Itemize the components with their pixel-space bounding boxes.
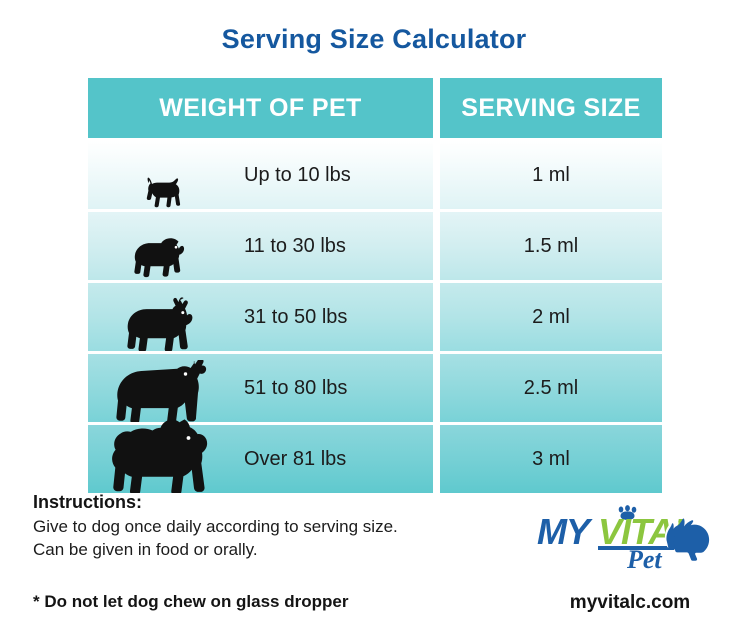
row-weight-text: 11 to 30 lbs <box>238 235 433 258</box>
table-row: Up to 10 lbs 1 ml <box>88 141 662 209</box>
row-serving-text: 1 ml <box>532 164 570 187</box>
xlarge-dog-icon <box>88 425 238 493</box>
large-dog-icon <box>88 354 238 422</box>
column-gap <box>433 141 440 209</box>
page-title: Serving Size Calculator <box>0 24 748 55</box>
warning-text: * Do not let dog chew on glass dropper <box>33 592 348 612</box>
column-gap <box>433 78 440 138</box>
column-gap <box>433 354 440 422</box>
instructions-block: Instructions: Give to dog once daily acc… <box>33 492 503 562</box>
table-row: 51 to 80 lbs 2.5 ml <box>88 354 662 422</box>
row-serving-cell: 3 ml <box>440 425 662 493</box>
row-serving-cell: 1 ml <box>440 141 662 209</box>
serving-size-table: WEIGHT OF PET SERVING SIZE Up to 10 lbs <box>88 78 662 493</box>
table-header-row: WEIGHT OF PET SERVING SIZE <box>88 78 662 138</box>
row-serving-text: 2 ml <box>532 306 570 329</box>
row-serving-cell: 1.5 ml <box>440 212 662 280</box>
table-row: 11 to 30 lbs 1.5 ml <box>88 212 662 280</box>
row-serving-cell: 2.5 ml <box>440 354 662 422</box>
row-weight-text: 31 to 50 lbs <box>238 306 433 329</box>
terrier-dog-icon <box>88 283 238 351</box>
brand-logo: MY VITAL Pet <box>535 500 725 578</box>
dog-cat-silhouette-icon <box>665 519 709 561</box>
header-cell-serving: SERVING SIZE <box>440 78 662 138</box>
column-gap <box>433 425 440 493</box>
row-weight-text: 51 to 80 lbs <box>238 377 433 400</box>
table-row: Over 81 lbs 3 ml <box>88 425 662 493</box>
row-weight-text: Over 81 lbs <box>238 448 433 471</box>
header-label-serving: SERVING SIZE <box>461 94 640 123</box>
row-serving-cell: 2 ml <box>440 283 662 351</box>
row-weight-cell: Up to 10 lbs <box>88 141 433 209</box>
instructions-line-2: Can be given in food or orally. <box>33 539 503 562</box>
column-gap <box>433 212 440 280</box>
row-weight-text: Up to 10 lbs <box>238 164 433 187</box>
row-serving-text: 1.5 ml <box>524 235 578 258</box>
website-url: myvitalc.com <box>535 592 725 614</box>
header-label-weight: WEIGHT OF PET <box>159 94 361 123</box>
row-serving-text: 2.5 ml <box>524 377 578 400</box>
row-weight-cell: 31 to 50 lbs <box>88 283 433 351</box>
row-weight-cell: 51 to 80 lbs <box>88 354 433 422</box>
small-dog-icon <box>88 141 238 209</box>
medium-dog-icon <box>88 212 238 280</box>
serving-size-calculator-page: Serving Size Calculator WEIGHT OF PET SE… <box>0 0 748 632</box>
row-serving-text: 3 ml <box>532 448 570 471</box>
header-cell-weight: WEIGHT OF PET <box>88 78 433 138</box>
svg-text:MY: MY <box>537 511 593 552</box>
table-row: 31 to 50 lbs 2 ml <box>88 283 662 351</box>
instructions-heading: Instructions: <box>33 492 503 513</box>
instructions-line-1: Give to dog once daily according to serv… <box>33 516 503 539</box>
row-weight-cell: 11 to 30 lbs <box>88 212 433 280</box>
column-gap <box>433 283 440 351</box>
svg-text:Pet: Pet <box>626 545 662 574</box>
row-weight-cell: Over 81 lbs <box>88 425 433 493</box>
